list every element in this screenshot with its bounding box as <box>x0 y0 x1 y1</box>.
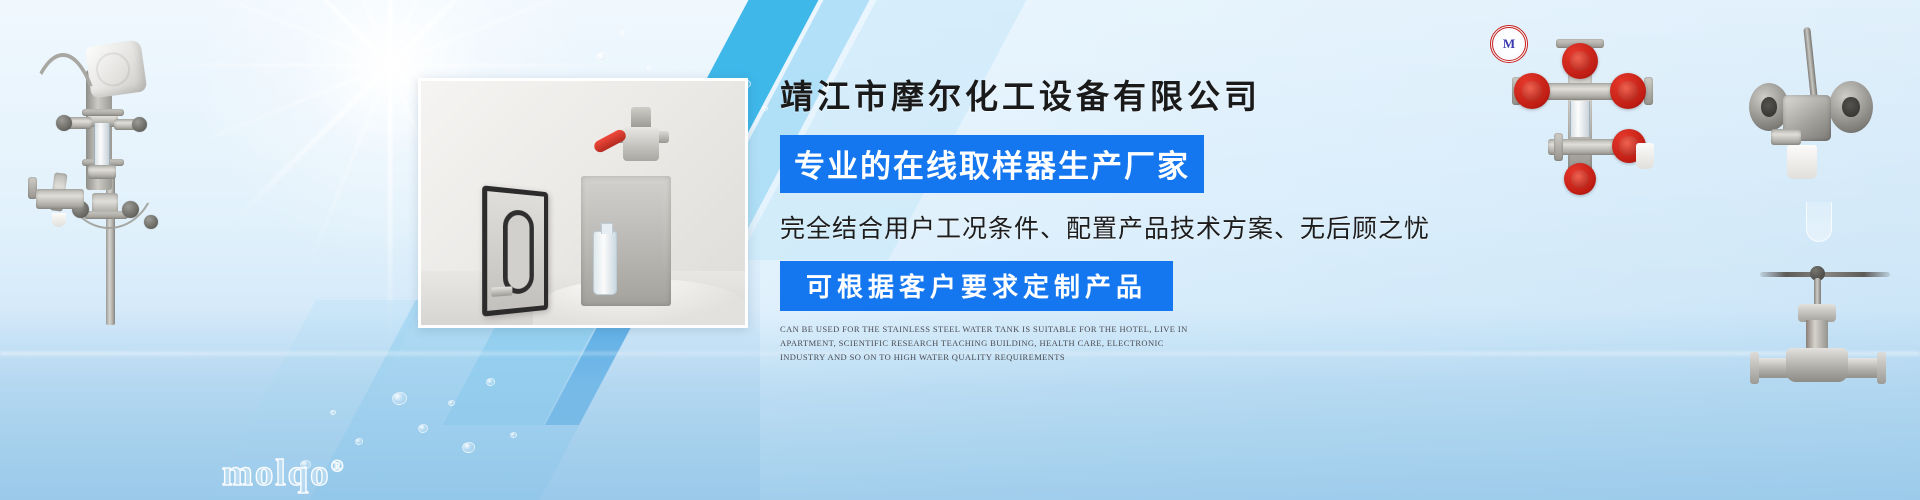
sampler-handwheel <box>132 117 147 132</box>
water-droplet <box>330 410 336 415</box>
water-droplet <box>448 400 455 406</box>
glass-vial <box>1806 202 1832 242</box>
cabinet-door <box>482 185 548 316</box>
product-image-online-sampler <box>10 25 210 325</box>
product-image-lever-sampling-valve <box>1745 25 1895 200</box>
valve-body <box>1786 348 1848 382</box>
red-handwheel <box>1562 43 1598 79</box>
headline-highlight: 专业的在线取样器生产厂家 <box>780 135 1204 193</box>
sampler-handwheel <box>56 115 72 131</box>
sampler-flange <box>82 109 124 116</box>
water-droplet <box>596 52 607 62</box>
cabinet-top-valve-assembly <box>607 107 673 173</box>
water-droplet <box>486 378 495 386</box>
cabinet-door-latch <box>491 286 512 297</box>
water-droplet <box>418 424 428 433</box>
product-photo-sampling-cabinet <box>418 78 748 328</box>
valve-flange <box>1554 133 1563 161</box>
water-droplet <box>355 438 363 445</box>
watermark-text: molqo <box>222 453 331 494</box>
sampler-handwheel <box>144 215 158 229</box>
red-handwheel <box>1564 163 1596 195</box>
sampler-flange <box>84 211 128 219</box>
red-handwheel <box>1514 73 1550 109</box>
valve-end-flange-right <box>1877 352 1886 384</box>
valve-end-flange-left <box>1750 352 1759 384</box>
brand-watermark: molqo® <box>222 452 345 495</box>
valve-lever-handle <box>1803 27 1817 99</box>
english-description: CAN BE USED FOR THE STAINLESS STEEL WATE… <box>780 322 1200 364</box>
drain-cup <box>1636 143 1654 169</box>
valve-body <box>623 127 659 161</box>
valve-flange-right <box>1829 81 1873 133</box>
product-image-cross-valve-tree: M <box>1490 25 1690 170</box>
sample-cup <box>1787 145 1817 179</box>
company-seal-badge: M <box>1490 25 1528 63</box>
water-droplet <box>646 66 652 71</box>
cta-highlight: 可根据客户要求定制产品 <box>780 261 1173 311</box>
water-droplet <box>620 30 627 36</box>
sampler-bottle <box>52 213 66 227</box>
valve-side-port <box>1771 129 1801 145</box>
cabinet-door-window <box>503 209 534 295</box>
water-droplet <box>392 392 407 405</box>
registered-mark-icon: ® <box>331 457 346 476</box>
valve-sight-glass <box>1570 101 1590 137</box>
product-image-gate-valve <box>1750 230 1910 400</box>
sampler-handwheel <box>122 201 139 218</box>
red-handwheel <box>1610 73 1646 109</box>
sampler-sight-glass <box>94 123 110 167</box>
company-name: 靖江市摩尔化工设备有限公司 <box>780 70 1420 118</box>
promotional-banner: M 靖江市摩尔化工设备有限公司 专业的在线取样器生产厂家 完全结合用户工况条件、… <box>0 0 1920 500</box>
water-droplet <box>510 432 517 438</box>
water-droplet <box>762 106 768 111</box>
sampler-valve-body <box>88 165 116 179</box>
valve-handle-bar <box>1760 272 1890 277</box>
banner-copy-block: 靖江市摩尔化工设备有限公司 专业的在线取样器生产厂家 完全结合用户工况条件、配置… <box>780 70 1420 364</box>
water-droplet <box>462 442 475 453</box>
sample-bottle <box>593 231 617 295</box>
sampler-manifold <box>36 189 84 209</box>
sub-headline: 完全结合用户工况条件、配置产品技术方案、无后顾之忧 <box>780 209 1420 245</box>
